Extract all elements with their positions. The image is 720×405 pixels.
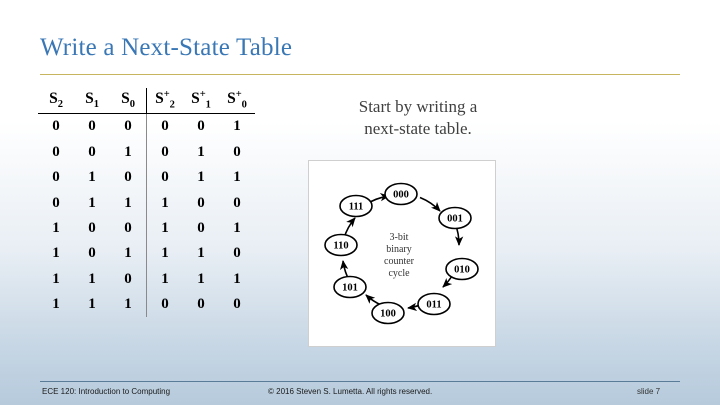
cell: 0: [219, 190, 255, 215]
cell: 0: [183, 114, 219, 140]
footer-course: ECE 120: Introduction to Computing: [42, 387, 170, 396]
node-001: 001: [439, 208, 471, 229]
subscript: 2: [58, 99, 63, 110]
cell: 1: [38, 216, 74, 241]
node-label: 110: [333, 241, 348, 252]
cell: 0: [219, 292, 255, 317]
cell: 1: [219, 114, 255, 140]
footer-copyright: © 2016 Steven S. Lumetta. All rights res…: [268, 387, 432, 396]
cell: 0: [183, 216, 219, 241]
subscript: 0: [242, 99, 247, 110]
subscript: 0: [130, 99, 135, 110]
next-state-table: S2 S1 S0 S+2 S+1 S+0 0 0 0 0 0 1: [38, 88, 255, 317]
table-row: 0 0 1 0 1 0: [38, 140, 255, 165]
cell: 0: [110, 267, 147, 292]
node-label: 111: [349, 202, 364, 213]
column-header-s0-next: S+0: [219, 88, 255, 114]
cell: 0: [38, 140, 74, 165]
table-header-row: S2 S1 S0 S+2 S+1 S+0: [38, 88, 255, 114]
title-divider: [40, 74, 680, 75]
cell: 0: [147, 140, 184, 165]
cell: 0: [74, 140, 110, 165]
cell: 1: [219, 267, 255, 292]
column-header-s1-next: S+1: [183, 88, 219, 114]
cell: 1: [183, 241, 219, 266]
cell: 1: [74, 190, 110, 215]
cell: 1: [147, 241, 184, 266]
node-011: 011: [418, 294, 450, 315]
subscript: 2: [170, 99, 175, 110]
figure-center-line-4: cycle: [388, 268, 410, 279]
cell: 0: [38, 165, 74, 190]
table-row: 0 0 0 0 0 1: [38, 114, 255, 140]
cell: 1: [74, 292, 110, 317]
node-000: 000: [385, 184, 417, 205]
cell: 1: [110, 190, 147, 215]
cell: 0: [147, 292, 184, 317]
column-header-s2: S2: [38, 88, 74, 114]
column-header-s2-next: S+2: [147, 88, 184, 114]
cell: 1: [219, 165, 255, 190]
node-010: 010: [446, 259, 478, 280]
column-header-s0: S0: [110, 88, 147, 114]
cell: 1: [110, 140, 147, 165]
node-110: 110: [325, 235, 357, 256]
cell: 1: [38, 241, 74, 266]
node-label: 001: [447, 214, 463, 225]
table-row: 1 1 1 0 0 0: [38, 292, 255, 317]
subscript: 1: [94, 99, 99, 110]
cell: 0: [183, 292, 219, 317]
cell: 1: [219, 216, 255, 241]
cell: 0: [110, 216, 147, 241]
cell: 1: [147, 216, 184, 241]
footer-divider: [40, 381, 680, 382]
cell: 0: [74, 216, 110, 241]
cell: 0: [219, 140, 255, 165]
footer-slide-number: slide 7: [637, 387, 660, 396]
figure-center-line-2: binary: [386, 244, 412, 255]
node-101: 101: [334, 277, 366, 298]
node-label: 011: [426, 300, 441, 311]
cell: 1: [183, 267, 219, 292]
cell: 0: [38, 114, 74, 140]
cell: 0: [74, 241, 110, 266]
counter-cycle-figure: 000 001 010 011 100 101: [308, 160, 496, 347]
cell: 1: [147, 190, 184, 215]
slide: Write a Next-State Table S2 S1 S0 S+2 S+…: [0, 0, 720, 405]
node-100: 100: [372, 303, 404, 324]
node-label: 000: [393, 190, 409, 201]
figure-center-line-1: 3-bit: [390, 232, 409, 243]
table-row: 1 0 0 1 0 1: [38, 216, 255, 241]
column-header-s1: S1: [74, 88, 110, 114]
table-row: 0 1 0 0 1 1: [38, 165, 255, 190]
instruction-caption: Start by writing a next-state table.: [318, 96, 518, 140]
cell: 1: [183, 165, 219, 190]
cell: 0: [147, 114, 184, 140]
node-111: 111: [340, 196, 372, 217]
cell: 0: [110, 114, 147, 140]
next-state-table-container: S2 S1 S0 S+2 S+1 S+0 0 0 0 0 0 1: [38, 88, 255, 317]
cell: 0: [38, 190, 74, 215]
page-title: Write a Next-State Table: [40, 34, 292, 62]
cell: 1: [110, 241, 147, 266]
caption-line-1: Start by writing a: [359, 97, 478, 116]
cell: 0: [147, 165, 184, 190]
cell: 0: [219, 241, 255, 266]
cell: 1: [38, 292, 74, 317]
subscript: 1: [206, 99, 211, 110]
caption-line-2: next-state table.: [364, 119, 472, 138]
cell: 1: [147, 267, 184, 292]
cell: 1: [110, 292, 147, 317]
arc-000-001: [420, 198, 440, 212]
node-label: 101: [342, 283, 358, 294]
counter-cycle-diagram: 000 001 010 011 100 101: [309, 161, 493, 344]
cell: 0: [183, 190, 219, 215]
cell: 1: [183, 140, 219, 165]
figure-center-line-3: counter: [384, 256, 415, 267]
cell: 1: [74, 165, 110, 190]
cell: 1: [74, 267, 110, 292]
cell: 0: [74, 114, 110, 140]
table-row: 1 0 1 1 1 0: [38, 241, 255, 266]
node-label: 010: [454, 265, 470, 276]
node-label: 100: [380, 309, 396, 320]
cell: 0: [110, 165, 147, 190]
table-row: 1 1 0 1 1 1: [38, 267, 255, 292]
table-row: 0 1 1 1 0 0: [38, 190, 255, 215]
cell: 1: [38, 267, 74, 292]
